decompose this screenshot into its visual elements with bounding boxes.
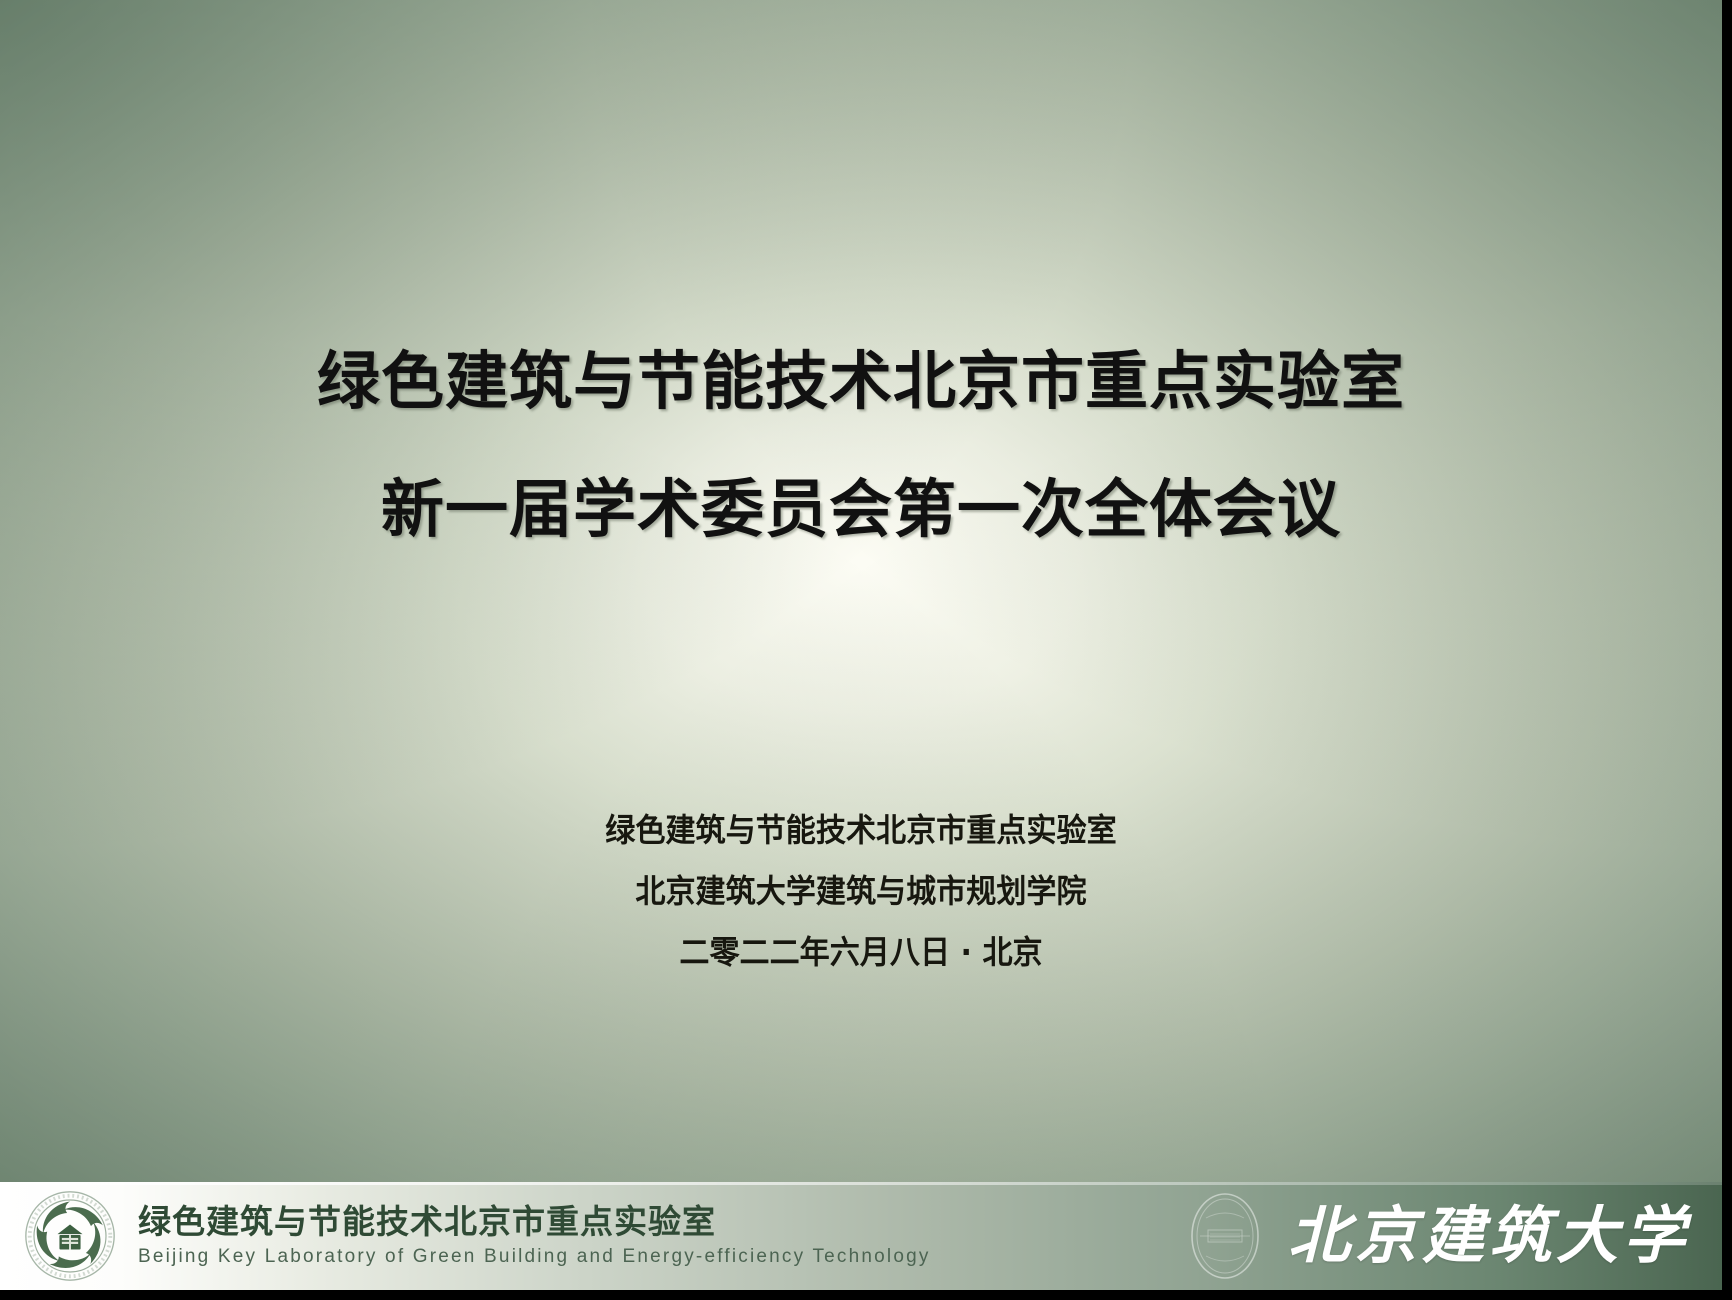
- laboratory-logo-icon: [22, 1188, 118, 1284]
- subtitle-school-name: 北京建筑大学建筑与城市规划学院: [52, 861, 1671, 922]
- subtitle-laboratory-name: 绿色建筑与节能技术北京市重点实验室: [52, 800, 1671, 861]
- university-name-text: 北京建筑大学: [1288, 1200, 1690, 1272]
- slide-title-line-1: 绿色建筑与节能技术北京市重点实验室: [0, 318, 1722, 446]
- slide-canvas: 绿色建筑与节能技术北京市重点实验室 新一届学术委员会第一次全体会议 绿色建筑与节…: [0, 0, 1722, 1290]
- slide-title-line-2: 新一届学术委员会第一次全体会议: [0, 446, 1722, 574]
- footer-lab-name-en: Beijing Key Laboratory of Green Building…: [138, 1244, 931, 1270]
- slide-background-gradient: [0, 0, 1722, 1290]
- university-brand-block: 北京建筑大学: [1188, 1190, 1690, 1282]
- university-seal-icon: [1188, 1190, 1262, 1282]
- slide-title-block: 绿色建筑与节能技术北京市重点实验室 新一届学术委员会第一次全体会议: [0, 318, 1722, 574]
- laboratory-name-block: 绿色建筑与节能技术北京市重点实验室 Beijing Key Laboratory…: [138, 1202, 931, 1270]
- footer-lab-name-cn: 绿色建筑与节能技术北京市重点实验室: [138, 1202, 931, 1242]
- presentation-slide-frame: 绿色建筑与节能技术北京市重点实验室 新一届学术委员会第一次全体会议 绿色建筑与节…: [0, 0, 1732, 1300]
- subtitle-date-location: 二零二二年六月八日 · 北京: [52, 922, 1671, 983]
- slide-subtitle-block: 绿色建筑与节能技术北京市重点实验室 北京建筑大学建筑与城市规划学院 二零二二年六…: [0, 800, 1722, 983]
- slide-footer-band: 绿色建筑与节能技术北京市重点实验室 Beijing Key Laboratory…: [0, 1182, 1722, 1290]
